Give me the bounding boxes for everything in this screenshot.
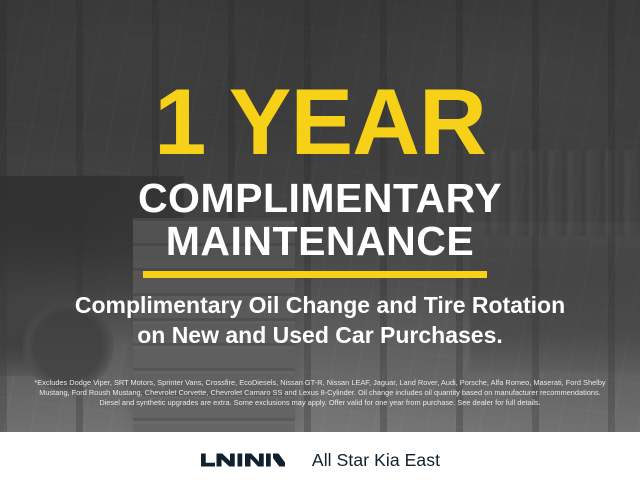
disclaimer-line-1: *Excludes Dodge Viper, SRT Motors, Sprin…	[14, 378, 626, 388]
promotional-banner: 1 YEAR COMPLIMENTARY MAINTENANCE Complim…	[0, 0, 640, 488]
subheadline: Complimentary Oil Change and Tire Rotati…	[28, 290, 612, 350]
disclaimer-line-3: Diesel and synthetic upgrades are extra.…	[14, 398, 626, 408]
disclaimer-fine-print: *Excludes Dodge Viper, SRT Motors, Sprin…	[14, 378, 626, 409]
hero-content: 1 YEAR COMPLIMENTARY MAINTENANCE Complim…	[0, 0, 640, 432]
yellow-divider-bar	[143, 271, 487, 278]
headline-line-3: MAINTENANCE	[0, 220, 640, 262]
headline-line-1: 1 YEAR	[0, 74, 640, 170]
subheadline-line-1: Complimentary Oil Change and Tire Rotati…	[28, 290, 612, 320]
hero-section: 1 YEAR COMPLIMENTARY MAINTENANCE Complim…	[0, 0, 640, 432]
footer-bar: All Star Kia East	[0, 432, 640, 488]
disclaimer-line-2: Mustang, Ford Roush Mustang, Chevrolet C…	[14, 388, 626, 398]
headline-line-2: COMPLIMENTARY	[0, 177, 640, 219]
kia-logo	[200, 449, 286, 471]
dealer-name: All Star Kia East	[312, 450, 440, 470]
subheadline-line-2: on New and Used Car Purchases.	[28, 320, 612, 350]
